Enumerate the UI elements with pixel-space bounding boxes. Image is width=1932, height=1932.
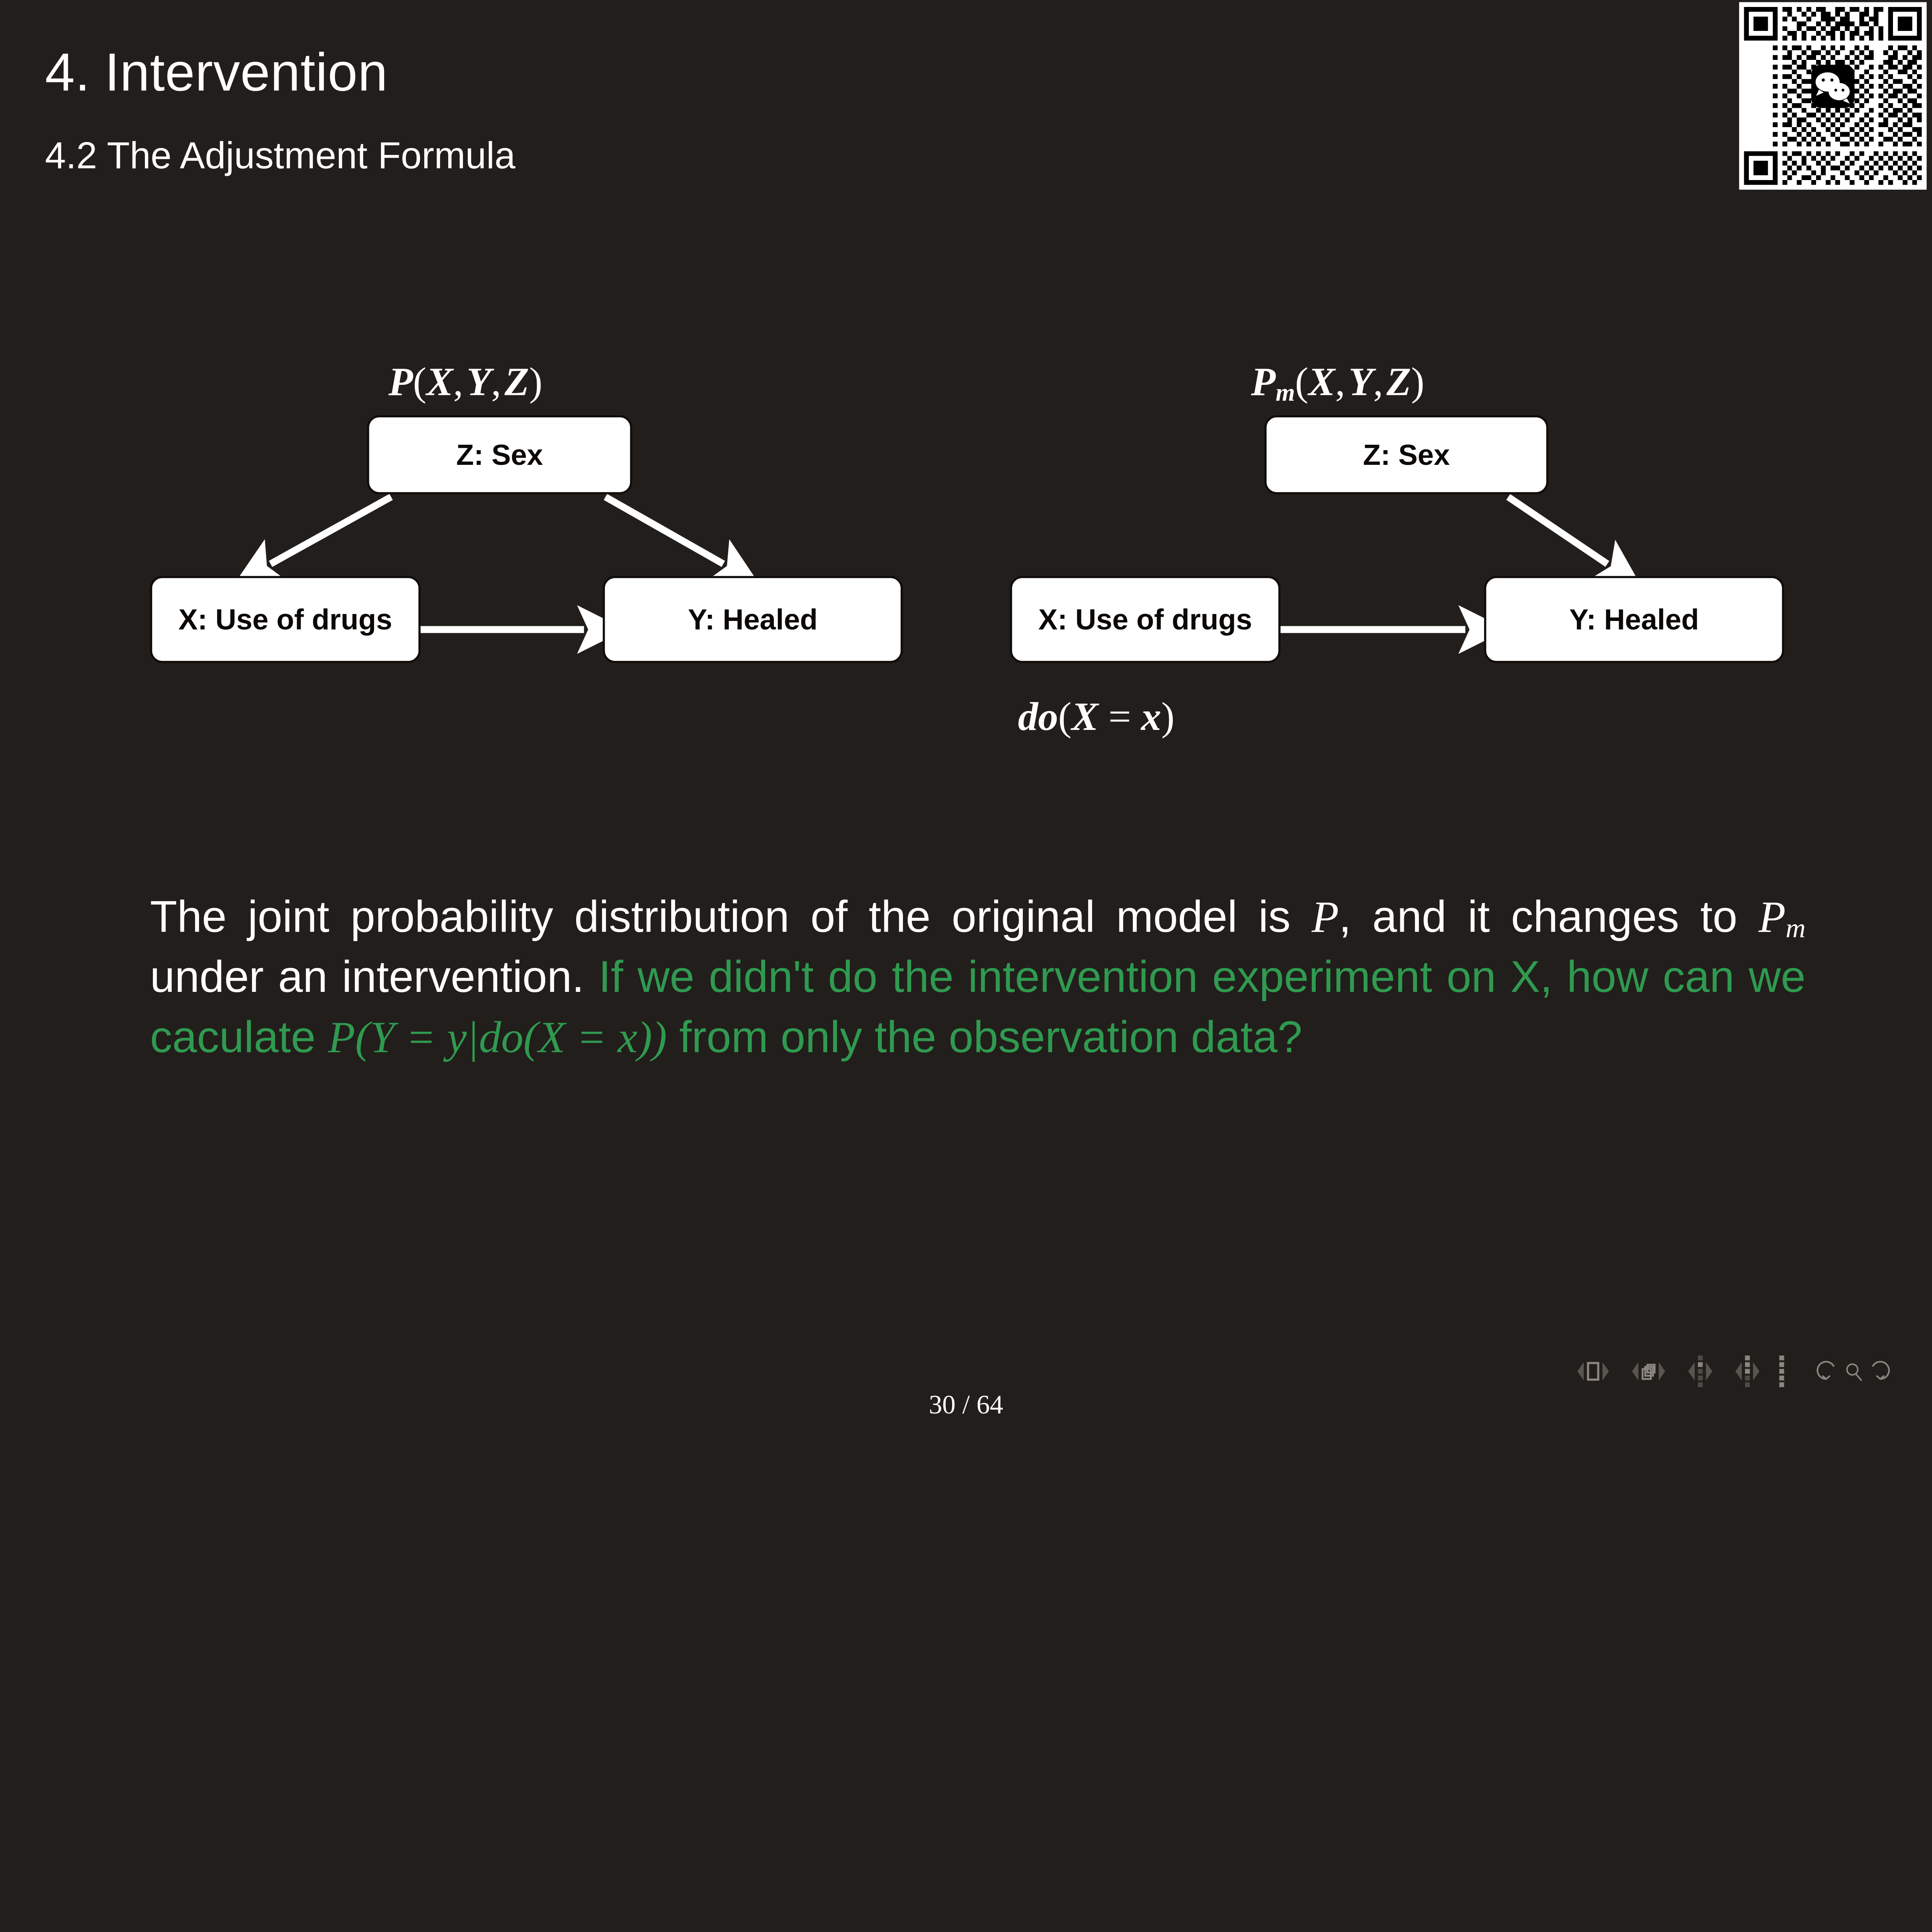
green-text-part-2: from only the observation data? — [667, 1012, 1302, 1062]
previous-frame-icon[interactable] — [1632, 1362, 1639, 1380]
beamer-navigation-bar[interactable] — [1574, 1355, 1892, 1387]
body-text-part-2: , and it changes to — [1339, 892, 1759, 941]
search-icon[interactable] — [1842, 1361, 1864, 1382]
body-text-part-3: under an intervention. — [150, 952, 584, 1002]
section-symbol-icon[interactable] — [1745, 1355, 1750, 1387]
body-paragraph: The joint probability distribution of th… — [150, 887, 1806, 1068]
page-subtitle: 4.2 The Adjustment Formula — [45, 137, 515, 174]
slide-canvas: 4.Intervention 4.2 The Adjustment Formul… — [0, 0, 1932, 1449]
next-subsection-icon[interactable] — [1706, 1362, 1713, 1380]
previous-section-icon[interactable] — [1735, 1362, 1742, 1380]
page-number: 30 / 64 — [0, 1389, 1932, 1420]
next-frame-icon[interactable] — [1659, 1362, 1665, 1380]
nav-subsection-group[interactable] — [1685, 1355, 1716, 1387]
node-x-use-of-drugs: X: Use of drugs — [150, 576, 420, 663]
previous-subsection-icon[interactable] — [1688, 1362, 1695, 1380]
subsection-symbol-icon[interactable] — [1698, 1355, 1702, 1387]
body-text-part-1: The joint probability distribution of th… — [150, 892, 1311, 941]
node-label: X: Use of drugs — [179, 603, 392, 636]
page-title-text: Intervention — [105, 43, 388, 102]
nav-utility-group[interactable] — [1815, 1360, 1892, 1383]
causal-diagram-original-model: P(X, Y, Z) Z: Sex X: Use of drugs Y: Hea… — [0, 308, 964, 764]
node-label: Y: Healed — [1569, 603, 1699, 636]
forward-arrow-icon[interactable] — [1869, 1360, 1892, 1383]
node-label: Z: Sex — [1363, 438, 1450, 472]
next-slide-icon[interactable] — [1602, 1362, 1609, 1380]
body-math-pm: Pm — [1759, 892, 1806, 942]
node-z-sex: Z: Sex — [367, 415, 632, 495]
node-label: Z: Sex — [456, 438, 543, 472]
node-x-use-of-drugs: X: Use of drugs — [1010, 576, 1281, 663]
qr-code-icon — [1744, 7, 1922, 185]
frame-symbol-icon[interactable] — [1641, 1364, 1655, 1379]
node-z-sex: Z: Sex — [1264, 415, 1548, 495]
wechat-qr-code — [1739, 2, 1927, 190]
node-label: Y: Healed — [688, 603, 818, 636]
nav-slide-group[interactable] — [1574, 1362, 1612, 1381]
nav-section-group[interactable] — [1732, 1355, 1763, 1387]
previous-slide-icon[interactable] — [1577, 1362, 1584, 1380]
node-label: X: Use of drugs — [1038, 603, 1252, 636]
page-title-number: 4. — [45, 43, 90, 102]
edges-intervened-model — [991, 308, 1902, 764]
document-overview-icon[interactable] — [1779, 1355, 1784, 1387]
causal-diagram-intervened-model: Pm(X, Y, Z) Z: Sex X: Use of drugs Y: He… — [991, 308, 1902, 764]
next-section-icon[interactable] — [1753, 1362, 1760, 1380]
back-arrow-icon[interactable] — [1815, 1360, 1838, 1383]
body-math-p: P — [1312, 892, 1339, 942]
node-y-healed: Y: Healed — [603, 576, 903, 663]
slide-symbol-icon[interactable] — [1587, 1362, 1599, 1381]
edges-original-model — [0, 308, 964, 764]
nav-frame-group[interactable] — [1629, 1362, 1668, 1380]
nav-overview-group[interactable] — [1779, 1355, 1784, 1387]
green-math-expression: P(Y = y|do(X = x)) — [328, 1013, 667, 1062]
page-title: 4.Intervention — [45, 46, 388, 99]
node-y-healed: Y: Healed — [1484, 576, 1784, 663]
